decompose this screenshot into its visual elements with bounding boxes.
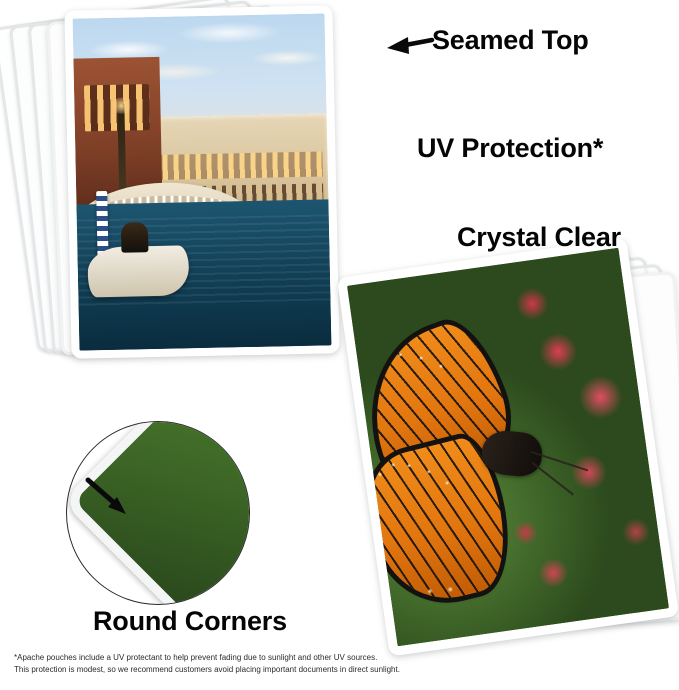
footnote-line-1: *Apache pouches include a UV protectant … (14, 652, 377, 664)
venice-photo-frame (64, 5, 339, 359)
callout-crystal-clear: Crystal Clear (457, 222, 621, 253)
butterfly-photo-frame (337, 238, 679, 657)
seamed-top-arrow-icon (386, 31, 434, 57)
footnote-line-2: This protection is modest, so we recomme… (14, 664, 400, 676)
callout-uv-protection: UV Protection* (417, 133, 603, 164)
butterfly-photo (347, 248, 669, 647)
venice-photo (73, 13, 332, 350)
callout-seamed-top: Seamed Top (432, 25, 589, 56)
product-infographic: Seamed Top UV Protection* Crystal Clear … (0, 0, 679, 690)
round-corner-arrow-icon (86, 476, 142, 522)
callout-round-corners: Round Corners (93, 606, 287, 637)
